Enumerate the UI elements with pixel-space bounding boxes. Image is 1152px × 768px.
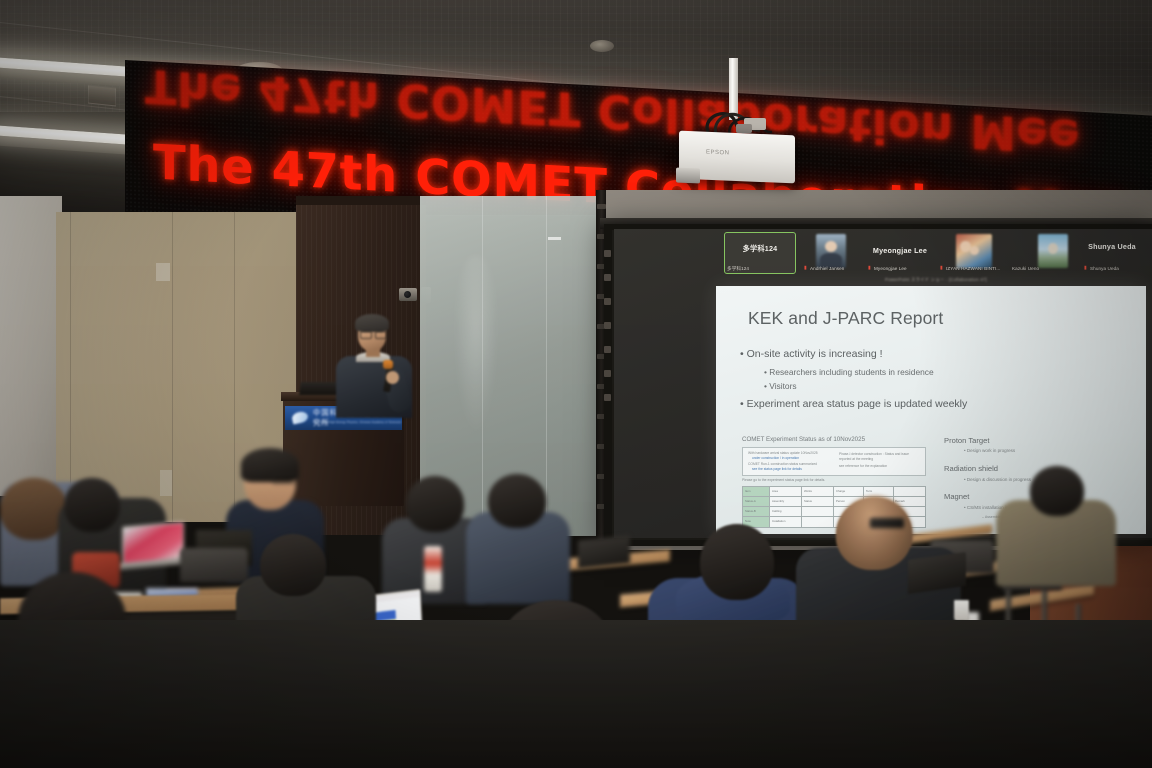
participant-name: Shunya Ueda	[1076, 242, 1148, 251]
participant-tile[interactable]: Shunya Ueda ▮ Shunya Ueda	[1076, 232, 1148, 272]
attendee-head	[488, 474, 546, 528]
table-note-right-2: see reference for the explanation	[839, 464, 921, 469]
presenter-glasses	[360, 331, 372, 339]
laptop-screen	[124, 523, 183, 563]
table-col-header: Term	[866, 489, 872, 493]
attendee-head	[406, 476, 464, 532]
participant-tile[interactable]: Kazuki Ueno	[1012, 232, 1074, 272]
slide-bullet-4: • Experiment area status page is updated…	[740, 398, 967, 410]
attendee-head	[836, 498, 912, 570]
presenter-hand	[386, 371, 399, 384]
participant-avatar	[956, 234, 992, 268]
smartphone	[870, 518, 904, 528]
table-row-header: Status-A	[745, 499, 756, 503]
ceiling-speaker-icon	[590, 40, 614, 52]
laptop-lid	[578, 535, 630, 568]
right-col-heading-1: Proton Target	[944, 436, 989, 445]
attendee-head	[260, 534, 326, 596]
microphone-head-icon	[383, 360, 393, 369]
table-note-right-1: Phase-I detector construction : Status a…	[839, 452, 921, 461]
attendee-head	[64, 478, 120, 532]
wall-outlet-plate	[160, 470, 172, 496]
table-cell: Person	[836, 499, 845, 503]
floor	[0, 620, 1152, 768]
participant-tile[interactable]: Myeongjae Lee ▮ Myeongjae Lee	[864, 232, 936, 272]
table-note-link: Please go to the experiment status page …	[742, 478, 825, 482]
screen-side-tabs	[604, 250, 611, 410]
table-note-left-4: see the status page link for details	[752, 467, 832, 472]
attendee-head	[1030, 466, 1084, 516]
table-block-title: COMET Experiment Status as of 10Nov2025	[742, 436, 865, 443]
participant-name-small: Shunya Ueda	[1090, 266, 1119, 271]
participant-name-small: Kazuki Ueno	[1012, 266, 1039, 271]
presentation-window-caption: PowerPoint スライド ショー - [Collaboration 47]	[724, 277, 1148, 283]
table-note-left-1: With hardware arrival status update 10No…	[748, 451, 828, 456]
table-note-left-2: under construction / in operation	[752, 456, 832, 461]
table-cell: Assembly	[772, 499, 784, 503]
slide-title: KEK and J-PARC Report	[748, 308, 943, 329]
table-cell: Installation	[772, 519, 785, 523]
participant-name-small: Andrhiel Jansen	[810, 266, 844, 271]
coffee-cup	[954, 600, 969, 621]
slide-bullet-1: • On-site activity is increasing !	[740, 348, 883, 360]
projector-lens	[676, 167, 700, 183]
participant-name: Myeongjae Lee	[864, 246, 936, 255]
mic-muted-icon: ▮	[940, 265, 943, 271]
camera-lens-icon	[404, 291, 411, 298]
table-col-header: Charge	[836, 489, 845, 493]
water-bottle	[424, 546, 442, 592]
slide-bullet-2: • Researchers including students in resi…	[764, 367, 934, 377]
table-row-header: Note	[745, 519, 751, 523]
table-col-header: Area	[772, 489, 778, 493]
participant-name-small: 多学科124	[727, 266, 749, 272]
podium-sign-english: Institute of High Energy Physics, Chines…	[313, 421, 401, 424]
participant-name-small: Myeongjae Lee	[874, 266, 907, 271]
mic-muted-icon: ▮	[1084, 265, 1087, 271]
right-col-heading-2: Radiation shield	[944, 464, 998, 473]
table-col-header: Works	[804, 489, 812, 493]
table-note-left-3: COMET Run-1 construction status summariz…	[748, 462, 830, 467]
table-row-header: Status-B	[745, 509, 756, 513]
participant-tile-active[interactable]: 多学科124 多学科124	[724, 232, 796, 274]
attendee-glasses	[272, 474, 298, 484]
conference-room-photo: The 47th COMET Collaboration Mee The 47t…	[0, 0, 1152, 768]
wall-left-panel	[0, 196, 62, 496]
slide-bullet-3: • Visitors	[764, 381, 797, 391]
presenter-hair	[355, 314, 389, 332]
table-cell: Cabling	[772, 509, 782, 513]
ceiling-vent-small	[88, 85, 116, 107]
right-col-item-2: • Design & discussion in progress	[964, 477, 1031, 482]
right-col-heading-3: Magnet	[944, 492, 969, 501]
table-cell: Status	[804, 499, 812, 503]
table-row-header: Item	[745, 489, 750, 493]
wall-switch-plate	[156, 263, 170, 281]
participant-name-small: IZYAN HAZWANI BINTI...	[946, 266, 1001, 271]
table-notes-box: With hardware arrival status update 10No…	[742, 447, 926, 476]
participant-name: 多学科124	[725, 244, 795, 254]
participant-tile[interactable]: ▮ Andrhiel Jansen	[800, 232, 862, 272]
mic-muted-icon: ▮	[804, 265, 807, 271]
participant-gallery-strip: 多学科124 多学科124 ▮ Andrhiel Jansen Myeongja…	[724, 232, 1148, 276]
presenter-glasses	[375, 331, 387, 339]
projector-brand-label: EPSON	[706, 150, 730, 157]
mic-muted-icon: ▮	[868, 265, 871, 271]
participant-tile[interactable]: ▮ IZYAN HAZWANI BINTI...	[938, 232, 1018, 272]
right-col-item-1: • Design work in progress	[964, 448, 1015, 453]
participant-avatar	[1038, 234, 1068, 268]
attendee-head	[700, 524, 774, 600]
chair	[180, 548, 248, 582]
participant-avatar	[816, 234, 846, 268]
